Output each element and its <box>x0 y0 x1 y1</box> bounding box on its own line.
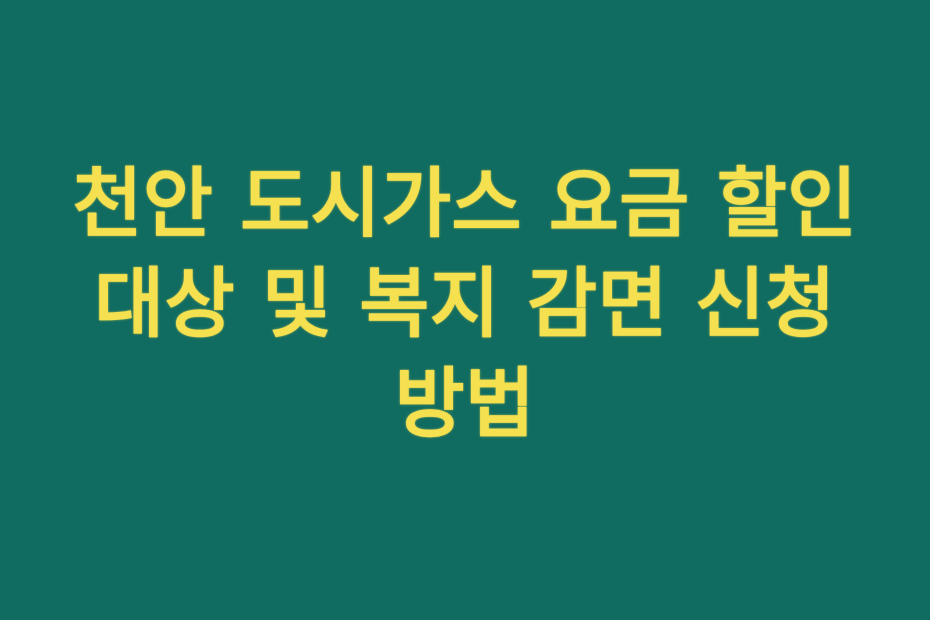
thumbnail-card: 천안 도시가스 요금 할인 대상 및 복지 감면 신청 방법 <box>0 0 930 620</box>
page-title: 천안 도시가스 요금 할인 대상 및 복지 감면 신청 방법 <box>35 154 895 454</box>
title-line-2: 대상 및 복지 감면 신청 <box>94 254 836 354</box>
title-line-3: 방법 <box>395 354 536 454</box>
title-line-1: 천안 도시가스 요금 할인 <box>72 154 857 254</box>
